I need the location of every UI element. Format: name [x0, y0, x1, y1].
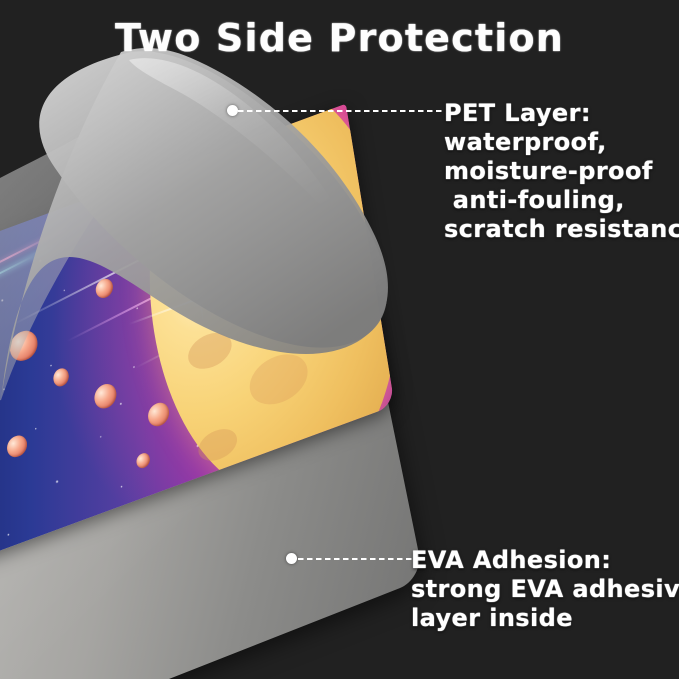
pet-callout-leader-line	[238, 110, 444, 112]
eva-callout-text: EVA Adhesion: strong EVA adhesive layer …	[411, 546, 679, 633]
eva-callout-leader-line	[298, 558, 412, 560]
product-infographic: Two Side Protection PET Layer: waterproo…	[0, 0, 679, 679]
pet-layer-sheet	[0, 40, 445, 440]
pet-callout-dot-icon	[227, 105, 238, 116]
page-title: Two Side Protection	[0, 16, 679, 60]
eva-callout-dot-icon	[286, 553, 297, 564]
pet-callout-text: PET Layer: waterproof, moisture-proof an…	[444, 99, 679, 244]
